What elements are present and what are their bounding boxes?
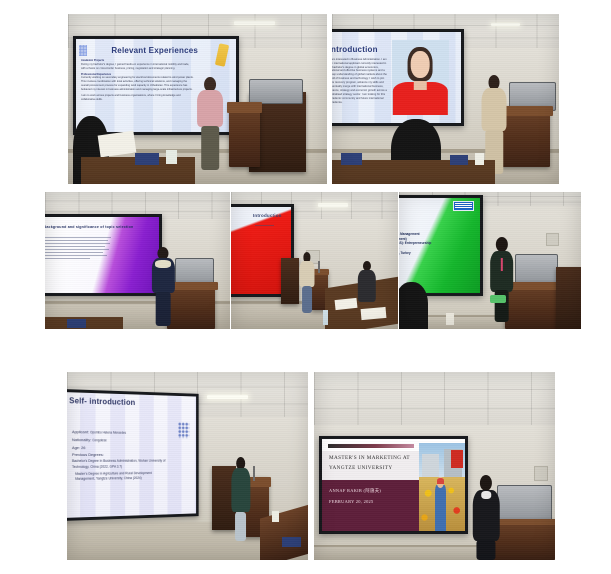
presenter-body [482, 88, 507, 131]
slide-photo-building [422, 454, 439, 477]
ceiling [314, 372, 555, 428]
presentation-date: FEBRUARY 20, 2025 [329, 499, 374, 504]
slide-field-value: Opombo Helena Mercedes [90, 431, 126, 435]
slide-photo-cap-icon [437, 478, 444, 484]
classroom-scene: MASTER'S IN MARKETING AT YANGTZE UNIVERS… [314, 372, 555, 560]
presenter-legs [202, 126, 220, 170]
examiner-body [358, 270, 376, 302]
classroom-scene: Self- introduction Applicant: Opombo Hel… [67, 372, 308, 560]
presenter-legs [156, 292, 171, 326]
slide-title: Relevant Experiences [111, 46, 198, 55]
slide: MASTER'S IN MARKETING AT YANGTZE UNIVERS… [322, 439, 465, 531]
ceiling-light [207, 395, 248, 400]
name-plate [341, 153, 361, 165]
applicant-portrait [392, 40, 449, 115]
photo-item: Relevant Experiences Academic Projects D… [68, 14, 327, 184]
name-plate [135, 153, 158, 165]
slide-body: ...ness Management ...Agement) ...(SEBS)… [399, 232, 443, 260]
slide-subtitle-line [255, 225, 274, 226]
slide-body: Applicant: Opombo Helena Mercedes Nation… [72, 428, 170, 483]
microphone-icon [318, 261, 320, 273]
slide-title: Introduction [332, 45, 378, 54]
name-plate [67, 319, 86, 327]
projection-screen: ...ness Management ...Agement) ...(SEBS)… [399, 195, 483, 296]
slide: Background and significance of topic sel… [45, 217, 159, 293]
presenter [473, 475, 500, 560]
slide-field-label: Applicant: [72, 429, 89, 434]
slide-photo-person [435, 485, 446, 530]
projection-screen: Introduction I am interested in Business… [332, 29, 464, 126]
slide-field-label: Age: [72, 445, 80, 450]
podium-top [227, 102, 262, 112]
slide-pointer-icon [215, 43, 229, 67]
ceiling-light [491, 23, 521, 27]
water-cup [166, 150, 176, 164]
slide-field-label: Previous Degrees: [72, 452, 104, 457]
water-cup [272, 511, 279, 522]
wall-panel [546, 233, 559, 246]
slide-section-text: I aim to work across projects and busine… [81, 94, 194, 102]
slide-corner-decoration [79, 45, 87, 56]
presenter [490, 237, 514, 322]
examiner [358, 261, 376, 302]
name-plate [282, 537, 301, 546]
slide-section-text: Currently working on secondary engineeri… [81, 76, 194, 91]
projection-screen: MASTER'S IN MARKETING AT YANGTZE UNIVERS… [319, 436, 468, 534]
presenter [231, 457, 250, 542]
name-plate [450, 155, 468, 165]
microphone-icon [253, 466, 255, 481]
slide-field-label: Nationality: [72, 437, 91, 442]
podium-monitor [249, 79, 303, 105]
water-cup [475, 153, 484, 165]
slide-photo-banner [451, 450, 464, 467]
slide-body: I am interested in Business Administrati… [332, 58, 388, 105]
wall-panel [534, 466, 548, 481]
slide-body: Academic Projects During my bachelor's d… [81, 59, 194, 102]
slide-field: Nationality: Congolese [72, 436, 170, 444]
green-folder [490, 295, 506, 303]
projection-screen: Background and significance of topic sel… [45, 214, 162, 296]
photo-item: ...ness Management ...Agement) ...(SEBS)… [399, 192, 581, 329]
ceiling-light [234, 21, 275, 25]
classroom-scene: Background and significance of topic sel… [45, 192, 230, 329]
paper-document [334, 298, 357, 310]
slide-field: Previous Degrees: [72, 451, 170, 458]
ceiling-light [318, 203, 348, 207]
slide: Introduction I am interested in Business… [332, 32, 461, 123]
presenter-collar [482, 491, 492, 499]
presenter-collar [155, 260, 171, 268]
podium [500, 106, 550, 167]
photo-item: Introduction I am interested in Business… [332, 14, 559, 184]
photo-collage: Relevant Experiences Academic Projects D… [0, 0, 611, 574]
slide-line-text: ...tion [399, 255, 443, 260]
slide-degree-item: Master's Degree in Agriculture and Rural… [72, 470, 170, 483]
slide-degree-item: Bachelor's Degree in Business Administra… [72, 458, 170, 470]
presenter [482, 75, 507, 174]
presenter-legs [302, 286, 312, 313]
audience-member [399, 282, 428, 329]
slide-title: Background and significance of topic sel… [45, 225, 133, 229]
photo-item: Background and significance of topic sel… [45, 192, 230, 329]
classroom-scene: Relevant Experiences Academic Projects D… [68, 14, 327, 184]
presenter-body [299, 261, 314, 286]
university-logo-icon [453, 201, 474, 212]
slide-title-line: MASTER'S IN MARKETING AT [329, 455, 410, 461]
classroom-scene: ...ness Management ...Agement) ...(SEBS)… [399, 192, 581, 329]
podium [229, 102, 260, 167]
slide-title: Introduction [253, 213, 282, 218]
slide-field-value: 26 [81, 445, 85, 450]
water-cup [446, 313, 453, 325]
presenter [198, 77, 224, 171]
classroom-scene: Introduction [231, 192, 398, 329]
presenter-body [231, 468, 250, 512]
slide-section-text: During my bachelor's degree, I gained ha… [81, 63, 194, 71]
presenter [299, 252, 314, 312]
photo-item: Introduction [231, 192, 398, 329]
photo-item: Self- introduction Applicant: Opombo Hel… [67, 372, 308, 560]
presenter-body [197, 90, 223, 127]
equipment-cabinet [556, 267, 581, 329]
presenter-legs [235, 512, 247, 542]
equipment-cabinet [281, 258, 299, 305]
portrait-face [411, 51, 430, 78]
projection-screen: Self- introduction Applicant: Opombo Hel… [67, 389, 199, 521]
slide-photo [419, 443, 465, 530]
photo-item: MASTER'S IN MARKETING AT YANGTZE UNIVERS… [314, 372, 555, 560]
podium-monitor [515, 254, 557, 286]
presenter-legs [477, 540, 496, 560]
presenter [152, 247, 174, 326]
water-bottle [323, 310, 328, 325]
slide-title-line: YANGTZE UNIVERSITY [329, 465, 393, 471]
classroom-scene: Introduction I am interested in Business… [332, 14, 559, 184]
slide-decoration-icon [178, 422, 189, 439]
slide: ...ness Management ...Agement) ...(SEBS)… [399, 198, 480, 293]
presenter-name: ANNAF RAKIB (阿施夫) [329, 488, 381, 494]
presenter-lanyard [501, 258, 503, 272]
slide-title: Self- introduction [69, 396, 135, 407]
slide: Self- introduction Applicant: Opombo Hel… [67, 392, 197, 517]
slide-body [45, 235, 111, 261]
slide-field-value: Congolese [92, 438, 106, 442]
slide-top-band [328, 444, 414, 448]
